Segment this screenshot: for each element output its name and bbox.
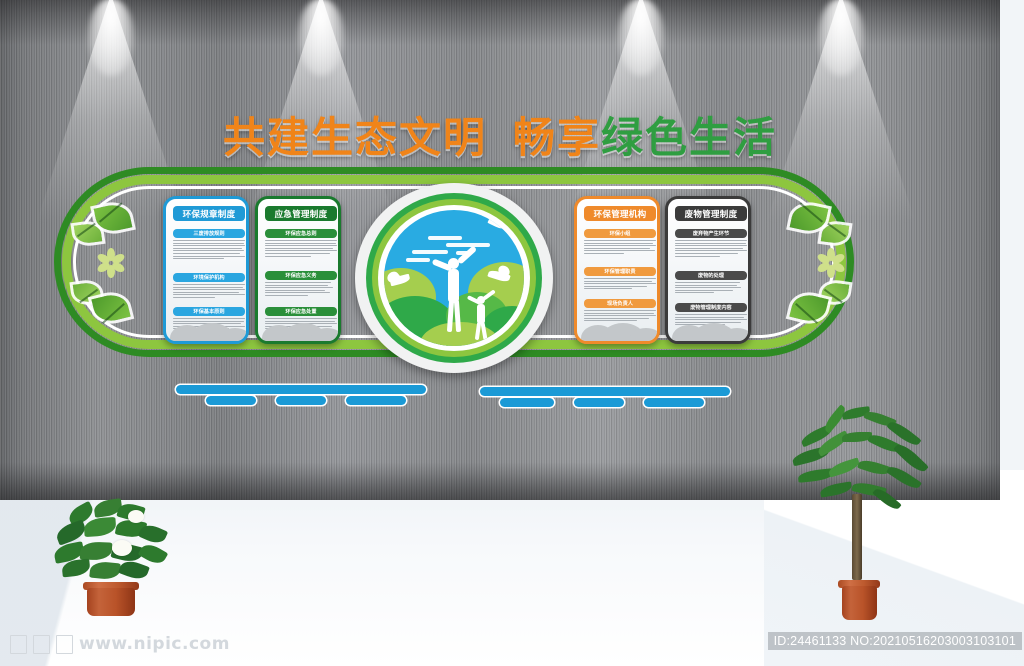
money-tree-potted-plant	[790, 408, 940, 620]
panel-section: 环保小组	[584, 229, 656, 256]
spotlight-hotspot-1	[88, 0, 134, 76]
body-text-lines	[173, 284, 245, 298]
body-text-lines	[265, 240, 337, 257]
panel-emergency-management[interactable]: 应急管理制度 环保应急总则 环保应急义务 环保应急处置	[255, 196, 341, 344]
spotlight-hotspot-3	[618, 0, 664, 76]
panel-title: 环保管理机构	[584, 206, 656, 221]
emblem-scene	[384, 210, 524, 346]
panel-section: 三废排放规则	[173, 229, 245, 261]
panel-title: 环保规章制度	[173, 206, 245, 221]
flower-blossom	[112, 540, 132, 556]
body-text-lines	[173, 240, 245, 259]
flower-blossom	[128, 510, 144, 523]
panel-waste-management[interactable]: 废物管理制度 废弃物产生环节 废物的处理 废物管理制度内容	[665, 196, 751, 344]
cloud-decoration	[668, 317, 751, 341]
gardenia-potted-plant	[50, 498, 180, 618]
title-part-2-orange: 畅享	[513, 113, 601, 162]
flower-pot	[842, 586, 877, 620]
title-part-2-green: 绿色生活	[601, 113, 777, 162]
braided-trunk	[852, 494, 862, 580]
body-text-lines	[265, 282, 337, 296]
logo-glyph-3	[56, 635, 73, 654]
cloud-decoration	[258, 317, 341, 341]
flower-pot	[87, 588, 135, 616]
title-part-1: 共建生态文明	[223, 113, 487, 162]
body-text-lines	[675, 240, 747, 257]
body-text-lines	[584, 240, 656, 254]
panel-section: 环保应急义务	[265, 271, 337, 298]
cloud-decoration	[166, 317, 249, 341]
spotlight-hotspot-2	[298, 0, 344, 76]
logo-glyph-2	[33, 635, 50, 654]
panel-section: 废物的处理	[675, 271, 747, 295]
watermark-logo: www.nipic.com	[10, 634, 230, 654]
panel-env-regulations[interactable]: 环保规章制度 三废排放规则 环境保护机构 环保基本原则	[163, 196, 249, 344]
blue-stripe-group-left	[176, 385, 436, 413]
body-text-lines	[675, 282, 747, 293]
body-text-lines	[584, 278, 656, 289]
blue-stripe-group-right	[470, 387, 730, 415]
panel-section: 环保应急总则	[265, 229, 337, 258]
eco-circle-emblem	[355, 183, 553, 373]
flower-icon	[98, 250, 124, 276]
panel-title: 应急管理制度	[265, 206, 337, 221]
watermark-id: ID:24461133 NO:20210516203003103101	[768, 632, 1022, 650]
panel-title: 废物管理制度	[675, 206, 747, 221]
spotlight-hotspot-4	[818, 0, 864, 76]
panel-section: 环保管理职责	[584, 267, 656, 291]
logo-glyph-1	[10, 635, 27, 654]
panel-section: 环境保护机构	[173, 273, 245, 300]
panel-section: 废弃物产生环节	[675, 229, 747, 258]
screenshot-root: 共建生态文明畅享绿色生活	[0, 0, 1024, 666]
cloud-decoration	[577, 317, 660, 341]
panel-env-management-org[interactable]: 环保管理机构 环保小组 环保管理职责 现场负责人	[574, 196, 660, 344]
watermark-site-text: www.nipic.com	[79, 634, 230, 654]
wall-title: 共建生态文明畅享绿色生活	[0, 104, 1000, 165]
flower-icon	[818, 250, 844, 276]
